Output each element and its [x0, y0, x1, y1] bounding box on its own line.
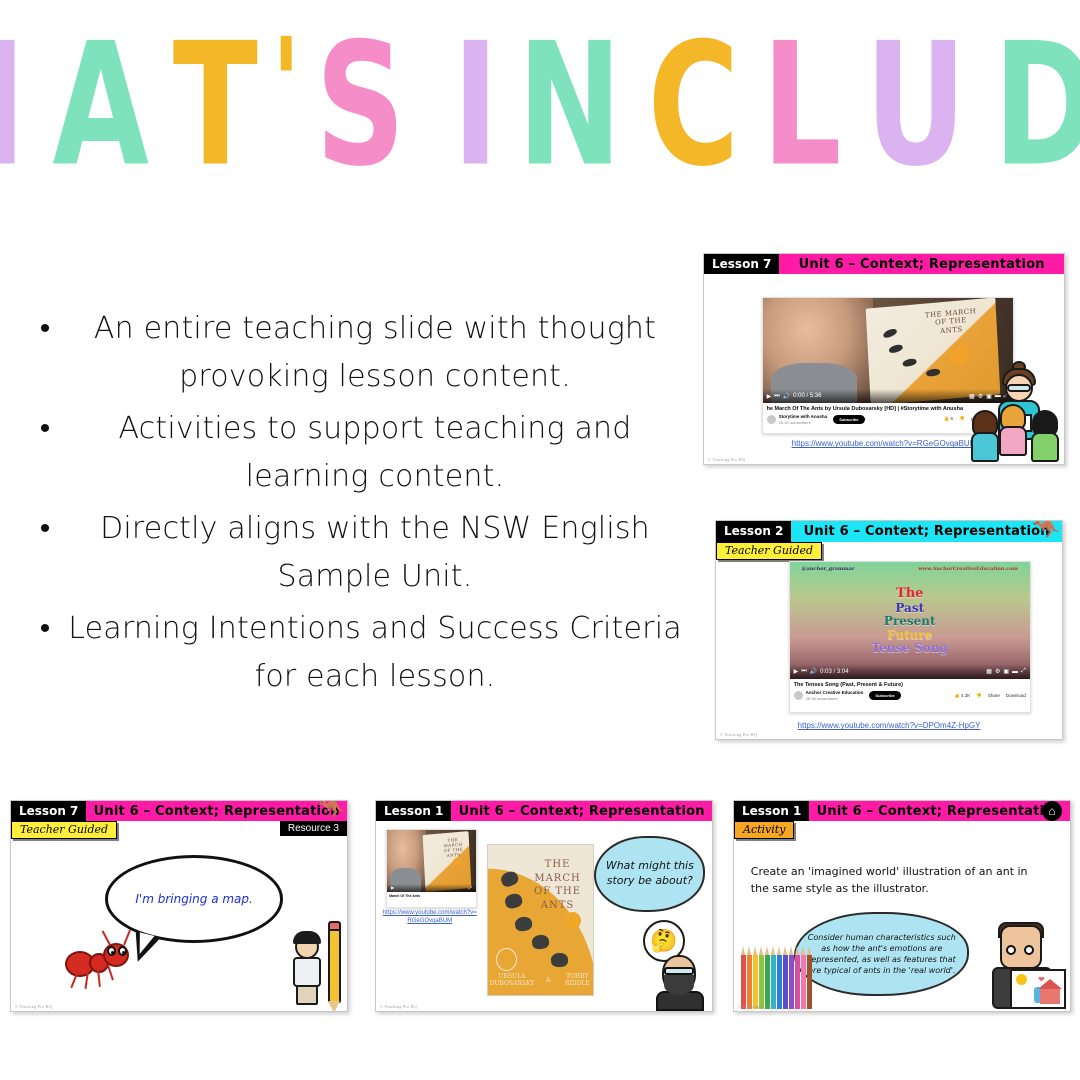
- bullet-text: Activities to support teaching and learn…: [62, 405, 688, 501]
- subscriber-count: 25.3K subscribers: [806, 696, 864, 701]
- slide-header: Lesson 7 Unit 6 – Context; Representatio…: [11, 801, 347, 821]
- home-icon[interactable]: ⌂: [1042, 801, 1062, 821]
- title-letter-9: C: [648, 20, 738, 190]
- student-figure: [1030, 410, 1060, 462]
- channel-name[interactable]: Anchor Creative Education 25.3K subscrib…: [806, 690, 864, 701]
- like-count[interactable]: 👍 4.3K: [954, 693, 970, 699]
- slide-thumbnail-lesson7-video[interactable]: Lesson 7 Unit 6 – Context; Representatio…: [703, 253, 1065, 465]
- song-line: Present: [884, 615, 936, 628]
- author-2: TOHBY RIDDLE: [561, 973, 593, 987]
- dislike-icon[interactable]: 👎: [959, 416, 965, 422]
- video-metadata: The Tenses Song (Past, Present & Future)…: [790, 679, 1030, 705]
- lesson-tag: Lesson 1: [734, 801, 809, 821]
- thought-cloud: Consider human characteristics such as h…: [794, 912, 969, 996]
- video-frame[interactable]: @anchor_grammar www.AnchorCreativeEducat…: [790, 562, 1030, 679]
- title-letter-5: S: [315, 20, 403, 190]
- ant-illustration: [888, 343, 904, 354]
- boy-with-drawing-clipart: ❤: [982, 925, 1068, 1009]
- teacher-thinking-clipart: [654, 945, 710, 1009]
- feature-bullet-list: •An entire teaching slide with thought p…: [28, 305, 688, 705]
- title-letter-12: D: [993, 20, 1080, 190]
- subscribe-button[interactable]: Subscribe: [833, 415, 864, 424]
- download-button[interactable]: Download: [1006, 693, 1026, 698]
- lesson-tag: Lesson 1: [376, 801, 451, 821]
- play-icon[interactable]: ▶: [794, 668, 799, 675]
- thought-cloud-text: What might this story be about?: [596, 859, 703, 889]
- pencil-icon: [753, 955, 758, 1009]
- book-title-mini: THE MARCH OF THE ANTS: [912, 306, 989, 339]
- pencil-icon: [741, 955, 746, 1009]
- slide-body: Teacher Guided Resource 3 I'm bringing a…: [11, 821, 347, 1011]
- bullet-item: •An entire teaching slide with thought p…: [28, 305, 688, 401]
- next-icon[interactable]: ⏭: [801, 668, 806, 675]
- fullscreen-icon[interactable]: ⤢: [469, 885, 472, 890]
- song-line: Tense Song: [872, 642, 948, 655]
- ant-illustration: [901, 358, 916, 368]
- slide-thumbnail-lesson1-activity[interactable]: Lesson 1 Unit 6 – Context; Representatio…: [733, 800, 1071, 1012]
- kangaroo-icon: 🦘: [318, 800, 345, 819]
- unit-title: Unit 6 – Context; Representation: [451, 801, 712, 821]
- volume-icon[interactable]: 🔊: [783, 393, 790, 400]
- bullet-marker: •: [28, 305, 62, 353]
- bullet-marker: •: [28, 505, 62, 553]
- unit-title: Unit 6 – Context; Representation: [809, 801, 1070, 821]
- ant-antenna: [123, 930, 131, 946]
- unit-title: Unit 6 – Context; Representation: [791, 521, 1062, 542]
- lesson-tag: Lesson 7: [704, 254, 779, 274]
- speech-bubble: I'm bringing a map.: [105, 855, 283, 942]
- title-letter-10: L: [762, 20, 840, 190]
- next-icon[interactable]: ⏭: [774, 393, 779, 400]
- pencil-icon: [777, 955, 782, 1009]
- tense-song-lyrics: ThePastPresentFutureTense Song: [790, 562, 1030, 679]
- title-letter-2: A: [52, 20, 147, 190]
- title-letters: WHAT'SINCLUDED: [0, 30, 1080, 190]
- colored-pencils-clipart: [741, 955, 812, 1009]
- song-line: Future: [887, 629, 932, 642]
- activity-badge: Activity: [734, 821, 794, 839]
- slide-body: Activity Create an 'imagined world' illu…: [734, 821, 1070, 1011]
- unit-title: Unit 6 – Context; Representation: [779, 254, 1064, 274]
- slide-body: THE MARCH OF THE ANTS ▶ ⏭ 🔊: [704, 274, 1064, 464]
- ant-eye: [118, 946, 127, 956]
- sun-illustration: [564, 912, 581, 929]
- bullet-text: Learning Intentions and Success Criteria…: [62, 605, 688, 701]
- slide-body: THE MARCH OF THE ANTS ▶ ⤢ March Of The A…: [376, 821, 712, 1011]
- title-letter-8: N: [518, 20, 621, 190]
- lesson-tag: Lesson 7: [11, 801, 86, 821]
- video-actions[interactable]: 👍 4.3K 👎 Share Download: [954, 693, 1026, 699]
- video-controls[interactable]: ▶ ⏭ 🔊 0:03 / 3:04 ▦ ⚙ ▣ ▬ ⤢: [790, 664, 1030, 679]
- page-title: WHAT'SINCLUDED: [0, 30, 1080, 190]
- channel-name[interactable]: Storytime with Anusha 25.1K subscribers: [779, 414, 828, 425]
- hair: [293, 931, 321, 944]
- footer-watermark: © Teaching Pro HQ: [738, 1004, 775, 1009]
- student-figure: [970, 410, 1000, 462]
- ant-eye: [107, 946, 116, 956]
- slide-thumbnail-lesson1-book[interactable]: Lesson 1 Unit 6 – Context; Representatio…: [375, 800, 713, 1012]
- book-authors: URSULA DUBOSARSKY & TOHBY RIDDLE: [488, 973, 594, 987]
- kangaroo-icon: 🦘: [1033, 520, 1060, 539]
- title-letter-4: ': [272, 23, 299, 150]
- unit-title: Unit 6 – Context; Representation: [86, 801, 347, 821]
- glasses-icon: [1007, 384, 1031, 392]
- dislike-icon[interactable]: 👎: [976, 693, 982, 699]
- song-line: The: [896, 587, 923, 601]
- footer-watermark: © Teaching Pro HQ: [720, 732, 757, 737]
- footer-watermark: © Teaching Pro HQ: [380, 1004, 417, 1009]
- theater-icon[interactable]: ▬: [1012, 669, 1018, 675]
- speech-bubble-text: I'm bringing a map.: [135, 892, 252, 906]
- ant-antenna: [101, 930, 110, 945]
- slide-header: Lesson 2 Unit 6 – Context; Representatio…: [716, 521, 1062, 542]
- slide-thumbnail-lesson7-resource[interactable]: Lesson 7 Unit 6 – Context; Representatio…: [10, 800, 348, 1012]
- pencil-icon: [801, 955, 806, 1009]
- teacher-guided-badge: Teacher Guided: [11, 821, 117, 839]
- sun-illustration: [948, 344, 970, 367]
- teacher-and-students-clipart: [970, 366, 1062, 462]
- bullet-marker: •: [28, 605, 62, 653]
- channel-avatar: [794, 691, 803, 700]
- author-1: URSULA DUBOSARSKY: [488, 973, 536, 987]
- pencil-icon: [771, 955, 776, 1009]
- pencil-icon: [795, 955, 800, 1009]
- pencil-icon: [765, 955, 770, 1009]
- video-url-link[interactable]: https://www.youtube.com/watch?v=DPOm4Z-H…: [716, 721, 1062, 730]
- pencil-icon: [328, 929, 341, 1003]
- bullet-item: •Learning Intentions and Success Criteri…: [28, 605, 688, 701]
- reader-face-image: [387, 830, 426, 892]
- legs: [296, 985, 318, 1005]
- sun-illustration: [453, 858, 461, 866]
- activity-instruction-text: Create an 'imagined world' illustration …: [751, 863, 1047, 897]
- fullscreen-icon[interactable]: ⤢: [1021, 668, 1026, 675]
- video-timestamp: 0:03 / 3:04: [820, 669, 848, 675]
- youtube-thumbnail-small[interactable]: THE MARCH OF THE ANTS ▶ ⤢ March Of The A…: [386, 829, 477, 909]
- ant-illustration: [551, 953, 568, 967]
- channel-avatar: [767, 415, 776, 424]
- eye: [1006, 945, 1016, 955]
- youtube-embed[interactable]: @anchor_grammar www.AnchorCreativeEducat…: [789, 561, 1031, 713]
- ampersand: &: [546, 977, 551, 984]
- boy-with-pencil-clipart: [291, 925, 343, 1005]
- like-count[interactable]: 👍 6: [944, 416, 953, 422]
- slide-header: Lesson 1 Unit 6 – Context; Representatio…: [734, 801, 1070, 821]
- eye: [1024, 945, 1034, 955]
- pencil-icon: [807, 955, 812, 1009]
- subscribe-button[interactable]: Subscribe: [869, 691, 900, 700]
- title-letter-7: I: [452, 20, 497, 190]
- ant-illustration: [532, 934, 550, 949]
- bullet-text: Directly aligns with the NSW English Sam…: [62, 505, 688, 601]
- ant-illustration: [926, 368, 941, 377]
- pencil-icon: [759, 955, 764, 1009]
- share-button[interactable]: Share: [988, 693, 1000, 698]
- title-letter-11: U: [865, 20, 965, 190]
- book-cover-image: THE MARCH OF THE ANTS: [423, 831, 472, 892]
- video-url-link[interactable]: https://www.youtube.com/watch?v=RGeGOvqa…: [383, 910, 477, 925]
- ant-illustration: [881, 327, 897, 339]
- title-letter-3: T: [173, 20, 257, 190]
- thought-cloud-text: Consider human characteristics such as h…: [796, 932, 967, 977]
- subscriber-count: 25.1K subscribers: [779, 420, 828, 425]
- video-metadata: March Of The Ants: [387, 892, 476, 900]
- teacher-guided-badge: Teacher Guided: [716, 542, 822, 560]
- title-letter-1: H: [0, 20, 24, 190]
- volume-icon[interactable]: 🔊: [810, 668, 817, 675]
- slide-body: Teacher Guided @anchor_grammar www.Ancho…: [716, 542, 1062, 739]
- video-channel-row: Anchor Creative Education 25.3K subscrib…: [794, 690, 1026, 701]
- captions-icon[interactable]: ▦: [986, 668, 992, 675]
- video-title: March Of The Ants: [389, 894, 474, 898]
- pencil-icon: [789, 955, 794, 1009]
- ant-leg: [107, 965, 114, 981]
- bullet-item: •Activities to support teaching and lear…: [28, 405, 688, 501]
- student-figure: [998, 404, 1028, 462]
- slide-header: Lesson 7 Unit 6 – Context; Representatio…: [704, 254, 1064, 274]
- book-title-mini: THE MARCH OF THE ANTS: [440, 836, 468, 858]
- settings-icon[interactable]: ⚙: [995, 668, 1000, 675]
- reader-face-image: [763, 298, 873, 403]
- ant-character: [65, 935, 139, 987]
- video-title: The Tenses Song (Past, Present & Future): [794, 682, 1026, 688]
- bullet-item: •Directly aligns with the NSW English Sa…: [28, 505, 688, 601]
- whats-included-page: WHAT'SINCLUDED •An entire teaching slide…: [0, 0, 1080, 1080]
- torso: [293, 957, 321, 987]
- play-icon[interactable]: ▶: [767, 393, 772, 400]
- resource-tag: Resource 3: [280, 821, 347, 836]
- footer-watermark: © Teaching Pro HQ: [15, 1004, 52, 1009]
- pencil-icon: [747, 955, 752, 1009]
- video-frame[interactable]: THE MARCH OF THE ANTS ▶ ⤢: [387, 830, 476, 892]
- bullet-marker: •: [28, 405, 62, 453]
- thought-cloud: What might this story be about?: [594, 836, 705, 912]
- video-timestamp: 0:00 / 5:36: [793, 393, 821, 399]
- book-title: THE MARCH OF THE ANTS: [528, 858, 587, 912]
- beard: [664, 975, 694, 995]
- book-cover-large: THE MARCH OF THE ANTS URSULA DUBOSARSKY …: [487, 844, 595, 996]
- song-line: Past: [895, 602, 924, 615]
- miniplayer-icon[interactable]: ▣: [1003, 668, 1009, 675]
- lesson-tag: Lesson 2: [716, 521, 791, 542]
- slide-thumbnail-lesson2-video[interactable]: Lesson 2 Unit 6 – Context; Representatio…: [715, 520, 1063, 740]
- glasses-icon: [664, 967, 694, 975]
- video-controls[interactable]: ▶ ⤢: [387, 884, 476, 892]
- play-icon[interactable]: ▶: [391, 885, 394, 890]
- footer-watermark: © Teaching Pro HQ: [708, 457, 745, 462]
- pencil-icon: [783, 955, 788, 1009]
- child-drawing-image: ❤: [1010, 969, 1066, 1009]
- slide-header: Lesson 1 Unit 6 – Context; Representatio…: [376, 801, 712, 821]
- bullet-text: An entire teaching slide with thought pr…: [62, 305, 688, 401]
